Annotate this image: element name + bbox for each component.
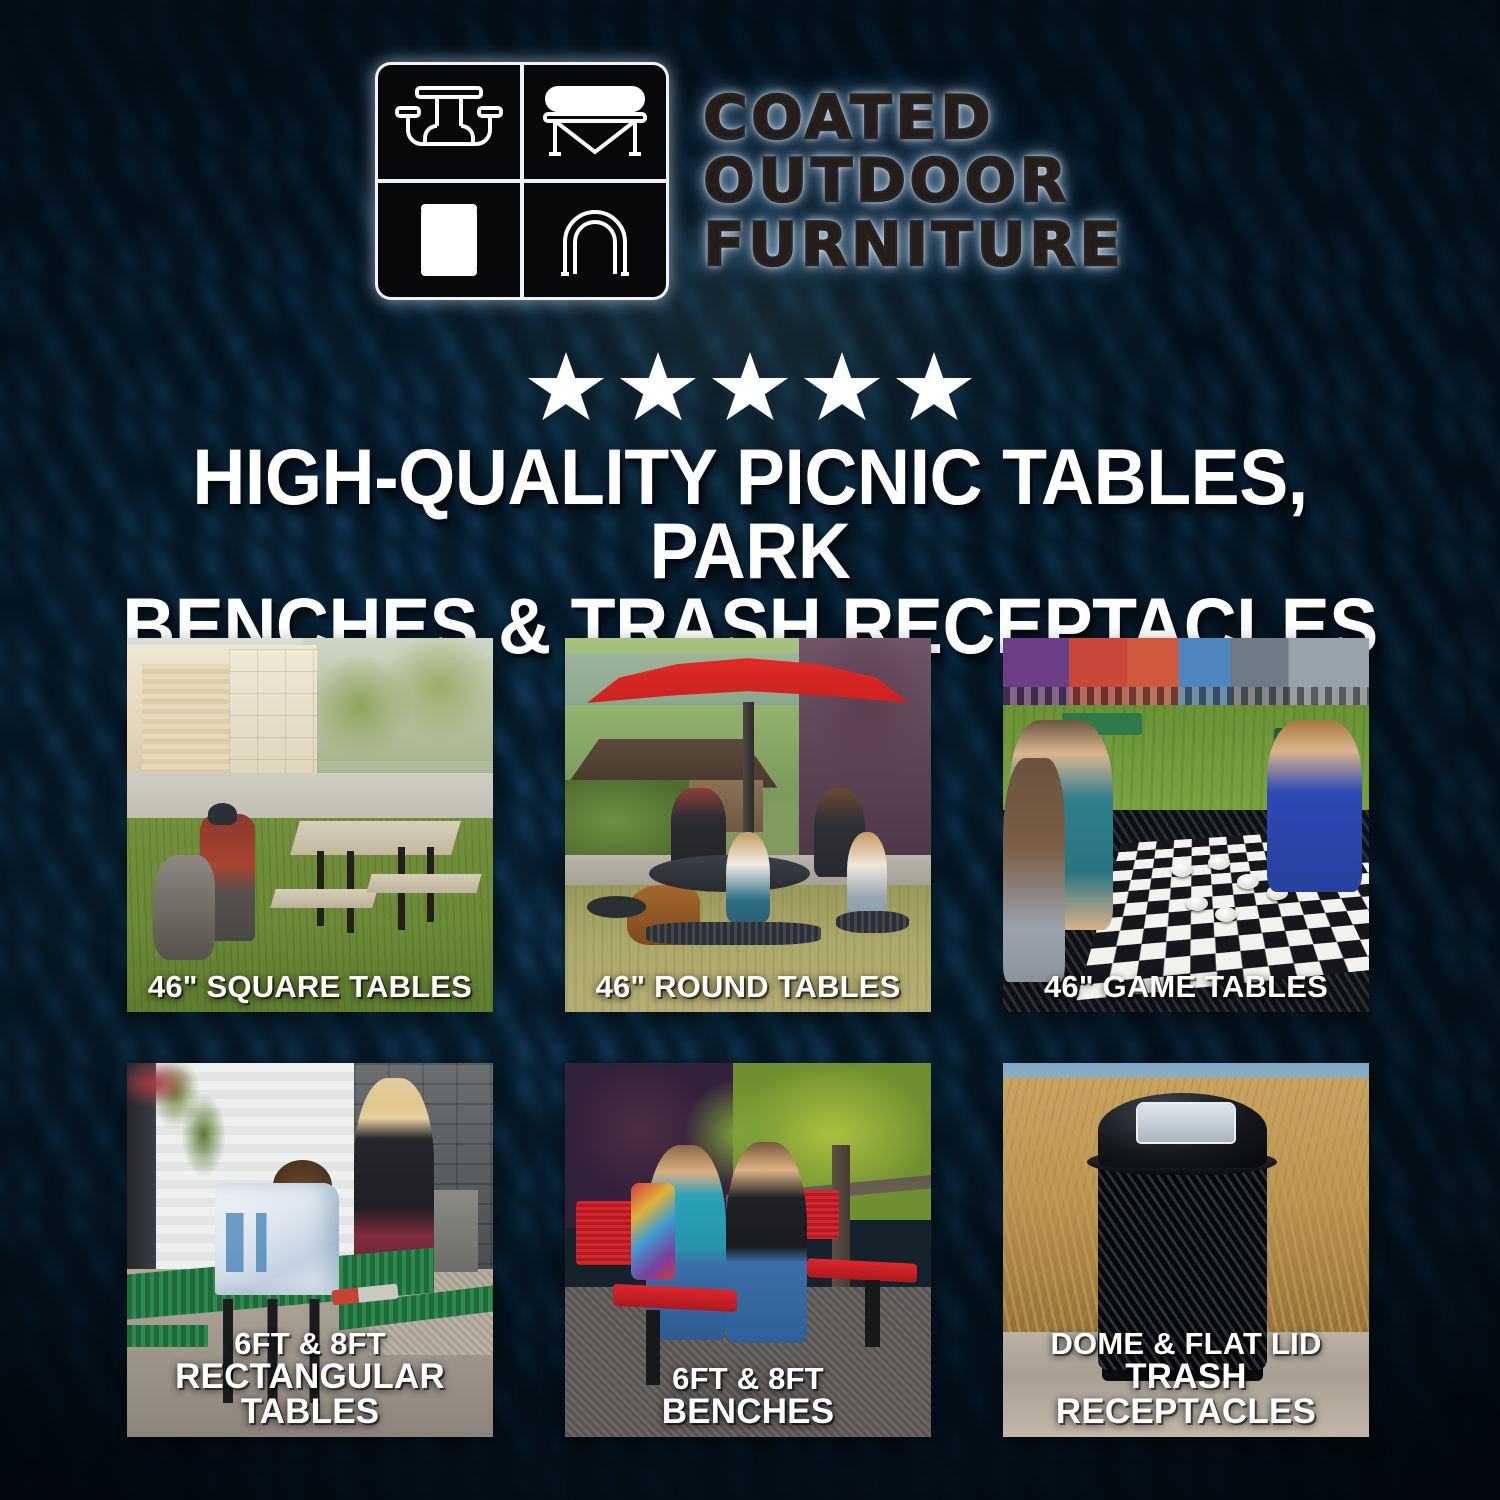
product-grid: 46" SQUARE TABLES 46" ROUND TABLES	[127, 638, 1373, 1437]
brand-name: COATED OUTDOOR FURNITURE	[703, 86, 1124, 276]
product-photo-game-tables	[1003, 638, 1369, 1012]
product-caption-square-tables: 46" SQUARE TABLES	[127, 971, 493, 1002]
product-tile-square-tables[interactable]: 46" SQUARE TABLES	[127, 638, 493, 1012]
product-tile-game-tables[interactable]: 46" GAME TABLES	[1003, 638, 1369, 1012]
headline: HIGH-QUALITY PICNIC TABLES, PARK BENCHES…	[118, 440, 1383, 663]
star-icon-3	[711, 352, 789, 426]
product-caption-rectangular-tables: 6FT & 8FT RECTANGULAR TABLES	[127, 1328, 493, 1429]
caption-line-1: 6FT & 8FT	[573, 1363, 923, 1394]
product-tile-benches[interactable]: 6FT & 8FT BENCHES	[565, 1063, 931, 1437]
caption-line-1: 6FT & 8FT	[135, 1328, 485, 1359]
picnic-table-icon	[378, 65, 520, 179]
product-tile-trash-receptacles[interactable]: DOME & FLAT LID TRASH RECEPTACLES	[1003, 1063, 1369, 1437]
product-tile-round-tables[interactable]: 46" ROUND TABLES	[565, 638, 931, 1012]
star-icon-2	[619, 352, 697, 426]
bench-icon	[524, 65, 666, 179]
product-caption-game-tables: 46" GAME TABLES	[1003, 971, 1369, 1002]
product-caption-benches: 6FT & 8FT BENCHES	[565, 1363, 931, 1429]
bike-rack-icon	[524, 183, 666, 297]
star-icon-5	[895, 352, 973, 426]
product-caption-trash-receptacles: DOME & FLAT LID TRASH RECEPTACLES	[1003, 1328, 1369, 1429]
caption-line-1: DOME & FLAT LID	[1011, 1328, 1361, 1359]
logo	[375, 62, 669, 300]
caption-line-2: TRASH RECEPTACLES	[1011, 1359, 1361, 1429]
product-tile-rectangular-tables[interactable]: 6FT & 8FT RECTANGULAR TABLES	[127, 1063, 493, 1437]
caption-line-2: BENCHES	[573, 1394, 923, 1429]
brand-header: COATED OUTDOOR FURNITURE	[0, 62, 1500, 300]
product-photo-square-tables	[127, 638, 493, 1012]
trash-receptacle-icon	[378, 183, 520, 297]
star-icon-1	[527, 352, 605, 426]
product-photo-round-tables	[565, 638, 931, 1012]
caption-line-2: RECTANGULAR TABLES	[135, 1359, 485, 1429]
headline-line-1: HIGH-QUALITY PICNIC TABLES, PARK	[118, 440, 1383, 589]
brand-name-line-3: FURNITURE	[703, 215, 1124, 276]
brand-name-line-2: OUTDOOR	[703, 151, 1124, 212]
promo-banner: COATED OUTDOOR FURNITURE HIGH-QUALITY PI…	[0, 0, 1500, 1500]
star-rating	[0, 352, 1500, 426]
star-icon-4	[803, 352, 881, 426]
brand-name-line-1: COATED	[703, 88, 1124, 149]
logo-mark	[375, 62, 669, 300]
product-caption-round-tables: 46" ROUND TABLES	[565, 971, 931, 1002]
